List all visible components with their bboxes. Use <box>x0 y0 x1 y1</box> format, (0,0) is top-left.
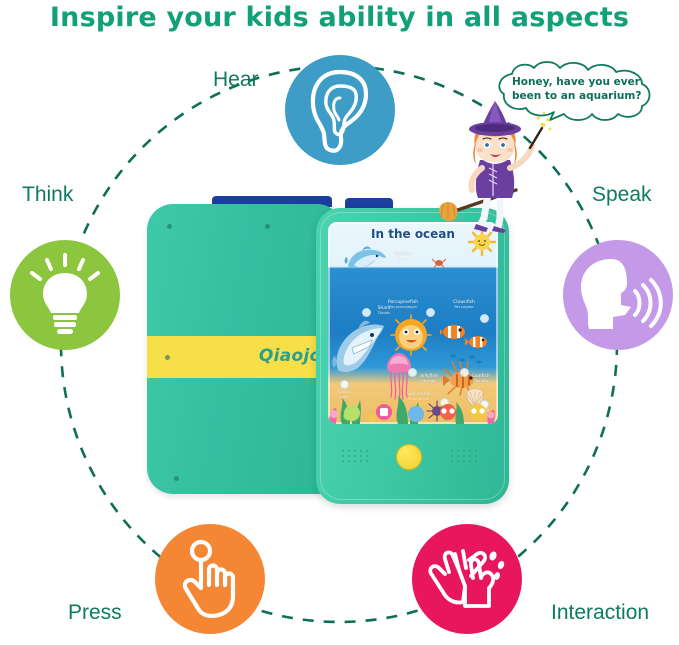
screen-hotspot-dot[interactable] <box>480 314 489 323</box>
screw-dot <box>174 476 179 481</box>
feature-label-press: Press <box>68 601 122 625</box>
dolphin-illustration <box>344 244 388 274</box>
feature-label-think: Think <box>22 183 73 207</box>
speaker-grille-right <box>449 448 481 464</box>
speaking-head-icon <box>573 253 663 337</box>
witch-girl-character <box>438 98 558 233</box>
creature-label-clownfish: Clownfish Pez payaso <box>448 300 480 310</box>
feature-circle-press[interactable] <box>155 524 265 634</box>
clapping-hands-icon <box>425 540 509 618</box>
device-screen[interactable]: In the ocean Dolphin Delfín <box>328 222 498 424</box>
page-title: Inspire your kids ability in all aspects <box>0 2 679 33</box>
creature-label-porcupinefish: Porcupinefish Pez puercoespín <box>383 300 423 310</box>
device-back-shell: Qiaojoy <box>147 204 343 494</box>
pointing-hand-icon <box>173 538 247 620</box>
clownfish-illustration <box>440 318 492 352</box>
feature-circle-interaction[interactable] <box>412 524 522 634</box>
promo-graphic: Inspire your kids ability in all aspects… <box>0 0 679 645</box>
speaker-grille-left <box>340 448 372 464</box>
feature-circle-speak[interactable] <box>563 240 673 350</box>
creature-label-dolphin: Dolphin Delfín <box>390 252 416 262</box>
feature-circle-hear[interactable] <box>285 55 395 165</box>
screen-hotspot-dot[interactable] <box>426 308 435 317</box>
screw-dot <box>167 224 172 229</box>
lightbulb-icon <box>23 253 107 337</box>
crab-illustration <box>432 256 446 268</box>
feature-label-hear: Hear <box>213 68 259 92</box>
speech-line-1: Honey, have you ever <box>512 75 657 89</box>
porcupinefish-illustration <box>390 314 434 356</box>
device-front-shell: In the ocean Dolphin Delfín <box>316 208 509 504</box>
device-brand-band: Qiaojoy <box>147 336 343 378</box>
feature-circle-think[interactable] <box>10 240 120 350</box>
screen-menu-buttons[interactable] <box>342 398 488 424</box>
fish-school-illustration <box>448 352 482 366</box>
feature-label-interaction: Interaction <box>551 601 649 625</box>
screen-hotspot-dot[interactable] <box>362 308 371 317</box>
ear-icon <box>300 64 380 156</box>
screw-dot <box>165 355 170 360</box>
product-device: Qiaojoy I <box>140 196 510 516</box>
screw-dot <box>265 224 270 229</box>
feature-label-speak: Speak <box>592 183 652 207</box>
shark-illustration <box>332 314 390 376</box>
device-home-button[interactable] <box>396 444 422 470</box>
